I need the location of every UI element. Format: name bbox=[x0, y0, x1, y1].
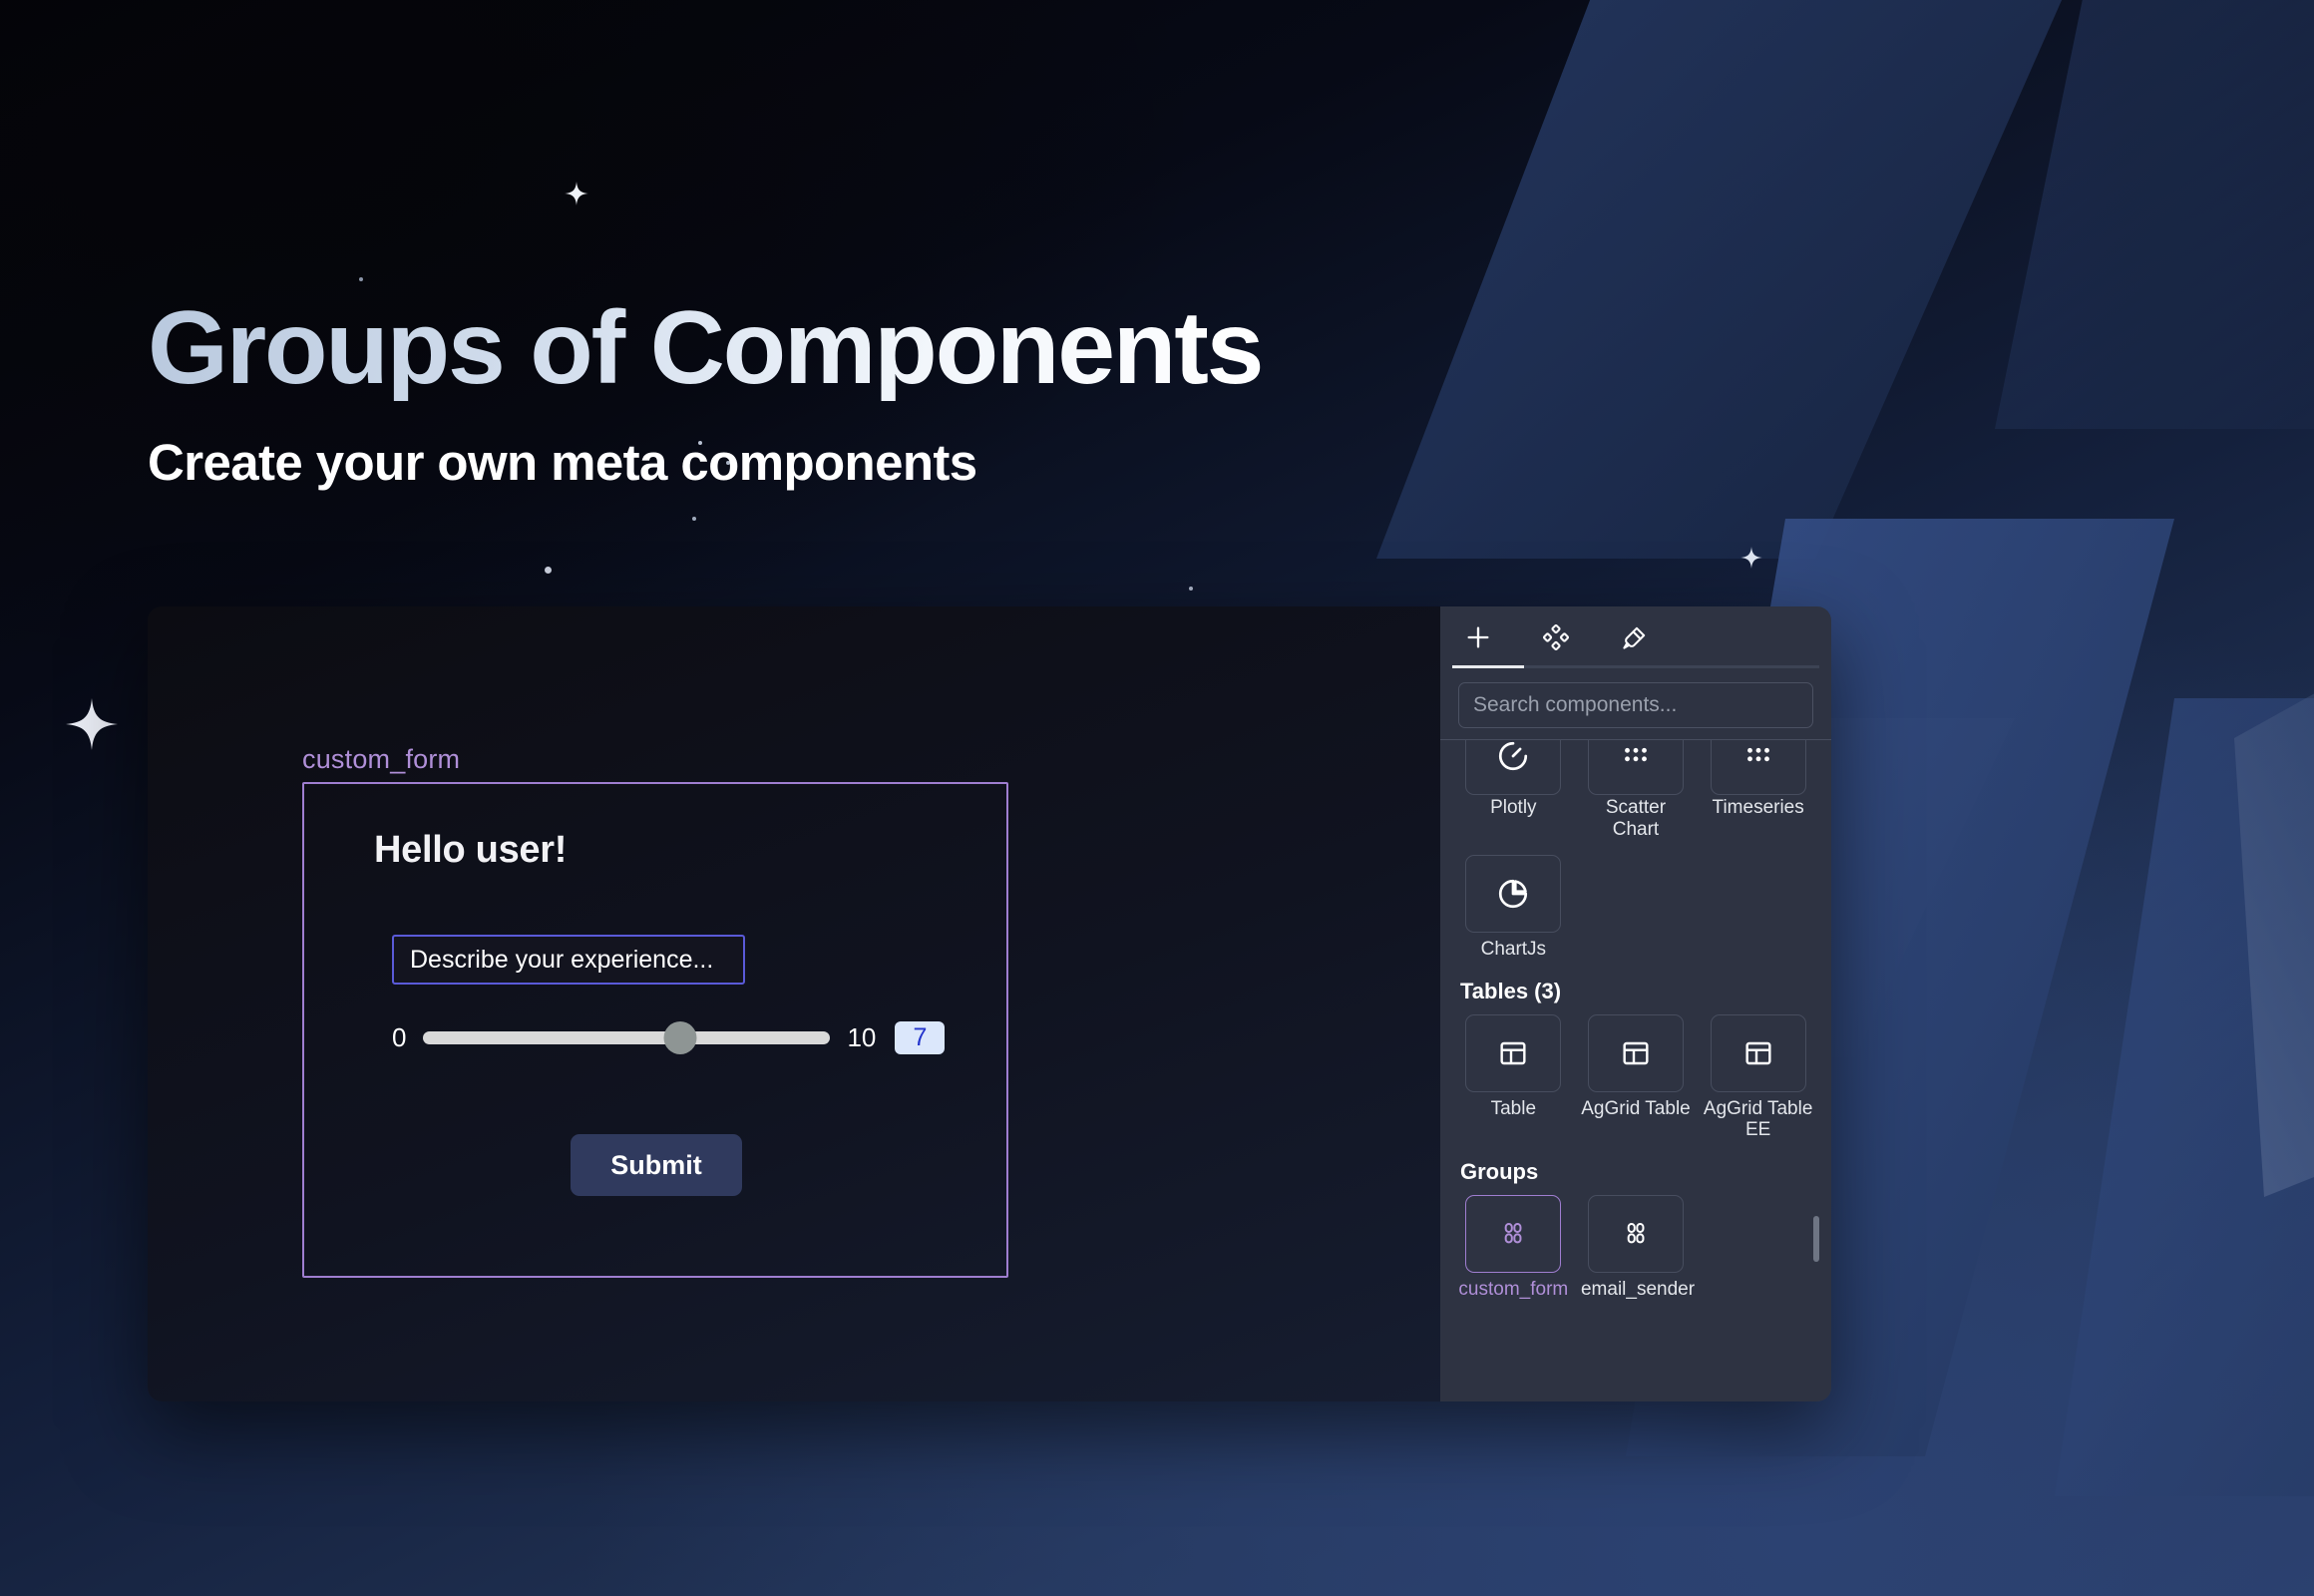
donut-chart-icon bbox=[1496, 739, 1530, 773]
table-icon bbox=[1620, 1037, 1652, 1069]
components-diamond-icon bbox=[1543, 624, 1569, 650]
sparkle-icon bbox=[1740, 547, 1762, 569]
form-heading: Hello user! bbox=[374, 829, 567, 872]
slider-value-badge: 7 bbox=[895, 1021, 945, 1054]
component-tile bbox=[1588, 1014, 1684, 1092]
component-tile bbox=[1588, 1195, 1684, 1273]
component-tile bbox=[1465, 739, 1561, 795]
component-item-aggrid-table-ee[interactable]: AgGrid Table EE bbox=[1703, 1014, 1813, 1142]
scatter-dots-icon bbox=[1741, 739, 1775, 773]
component-item-table[interactable]: Table bbox=[1458, 1014, 1569, 1142]
submit-button[interactable]: Submit bbox=[571, 1134, 742, 1196]
rating-slider[interactable]: 0 10 7 bbox=[392, 1017, 945, 1057]
component-sidebar: Plotly Scatter C bbox=[1440, 606, 1831, 1401]
component-label: custom_form bbox=[1458, 1279, 1568, 1301]
editor-canvas[interactable]: custom_form Hello user! 0 10 7 Submit bbox=[148, 606, 1440, 1401]
component-label: Timeseries bbox=[1713, 797, 1804, 841]
section-title-groups: Groups bbox=[1460, 1159, 1813, 1185]
component-label: Scatter Chart bbox=[1581, 797, 1691, 841]
table-icon bbox=[1497, 1037, 1529, 1069]
component-label: email_sender bbox=[1581, 1279, 1691, 1301]
component-tile bbox=[1465, 1014, 1561, 1092]
component-row-tables: Table AgGrid Table bbox=[1458, 1014, 1813, 1142]
component-label: ChartJs bbox=[1481, 939, 1546, 961]
component-tile bbox=[1465, 855, 1561, 933]
tab-components[interactable] bbox=[1536, 617, 1576, 657]
component-item-aggrid-table[interactable]: AgGrid Table bbox=[1581, 1014, 1692, 1142]
component-item-custom-form[interactable]: custom_form bbox=[1458, 1195, 1569, 1301]
group-blocks-icon bbox=[1497, 1218, 1529, 1250]
component-item-email-sender[interactable]: email_sender bbox=[1581, 1195, 1692, 1301]
component-row-charts-clipped: Plotly Scatter C bbox=[1458, 739, 1813, 795]
hero-section: Groups of Components Create your own met… bbox=[148, 295, 1262, 492]
group-blocks-icon bbox=[1620, 1218, 1652, 1250]
component-item-scatter-chart[interactable]: Scatter Chart bbox=[1581, 739, 1692, 795]
component-item-chartjs[interactable]: ChartJs bbox=[1458, 855, 1569, 961]
component-tile bbox=[1465, 1195, 1561, 1273]
slider-track-wrapper[interactable] bbox=[423, 1020, 830, 1054]
table-icon bbox=[1742, 1037, 1774, 1069]
search-input[interactable] bbox=[1458, 682, 1813, 728]
page-background: Groups of Components Create your own met… bbox=[0, 0, 2314, 1596]
sparkle-icon bbox=[66, 698, 118, 750]
component-tile bbox=[1711, 739, 1806, 795]
background-dot bbox=[545, 567, 552, 574]
component-list[interactable]: Plotly Scatter C bbox=[1440, 739, 1831, 1358]
component-label: Table bbox=[1491, 1098, 1536, 1120]
component-row-groups: custom_form bbox=[1458, 1195, 1813, 1301]
group-label: custom_form bbox=[302, 744, 1008, 775]
component-label: AgGrid Table bbox=[1581, 1098, 1691, 1120]
component-item-plotly[interactable]: Plotly bbox=[1458, 739, 1569, 795]
tab-styling[interactable] bbox=[1614, 617, 1654, 657]
component-label: AgGrid Table EE bbox=[1704, 1098, 1813, 1142]
component-row-charts-labels: Plotly Scatter Chart Timeseries bbox=[1458, 791, 1813, 841]
component-row-chartjs: ChartJs bbox=[1458, 855, 1813, 961]
group-boundary-box[interactable]: Hello user! 0 10 7 Submit bbox=[302, 782, 1008, 1278]
sidebar-tab-bar bbox=[1440, 606, 1831, 668]
background-dot bbox=[692, 517, 696, 521]
component-item-timeseries[interactable]: Timeseries bbox=[1703, 739, 1813, 795]
component-group-custom-form[interactable]: custom_form Hello user! 0 10 7 Submit bbox=[302, 744, 1008, 1278]
experience-input[interactable] bbox=[392, 935, 745, 985]
scatter-dots-icon bbox=[1619, 739, 1653, 773]
section-title-tables: Tables (3) bbox=[1460, 979, 1813, 1004]
tab-underline-active bbox=[1452, 665, 1524, 668]
sparkle-icon bbox=[565, 182, 588, 205]
page-title: Groups of Components bbox=[148, 295, 1262, 401]
tab-add-component[interactable] bbox=[1458, 617, 1498, 657]
page-subtitle: Create your own meta components bbox=[148, 433, 1262, 492]
background-dot bbox=[359, 277, 363, 281]
component-label: Plotly bbox=[1490, 797, 1536, 841]
sidebar-scrollbar[interactable] bbox=[1813, 1216, 1819, 1262]
slider-max-label: 10 bbox=[847, 1022, 876, 1053]
slider-thumb[interactable] bbox=[663, 1021, 696, 1054]
app-window: custom_form Hello user! 0 10 7 Submit bbox=[148, 606, 1831, 1401]
pie-chart-icon bbox=[1496, 877, 1530, 911]
slider-min-label: 0 bbox=[392, 1022, 406, 1053]
paintbrush-icon bbox=[1621, 624, 1648, 651]
component-tile bbox=[1711, 1014, 1806, 1092]
component-tile bbox=[1588, 739, 1684, 795]
background-dot bbox=[1189, 587, 1193, 591]
slider-track[interactable] bbox=[423, 1031, 830, 1044]
plus-icon bbox=[1464, 623, 1492, 651]
